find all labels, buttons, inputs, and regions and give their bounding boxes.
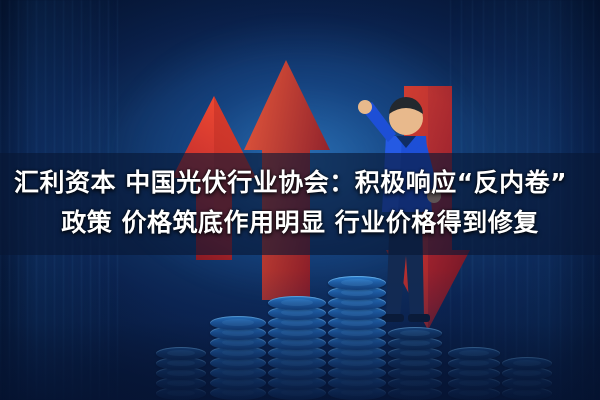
image-canvas: 汇利资本 中国光伏行业协会：积极响应“反内卷” 政策 价格筑底作用明显 行业价格… bbox=[0, 0, 600, 400]
headline-line-2: 政策 价格筑底作用明显 行业价格得到修复 bbox=[8, 203, 592, 243]
headline-overlay: 汇利资本 中国光伏行业协会：积极响应“反内卷” 政策 价格筑底作用明显 行业价格… bbox=[0, 153, 600, 255]
headline-line-1: 汇利资本 中国光伏行业协会：积极响应“反内卷” bbox=[8, 163, 592, 203]
